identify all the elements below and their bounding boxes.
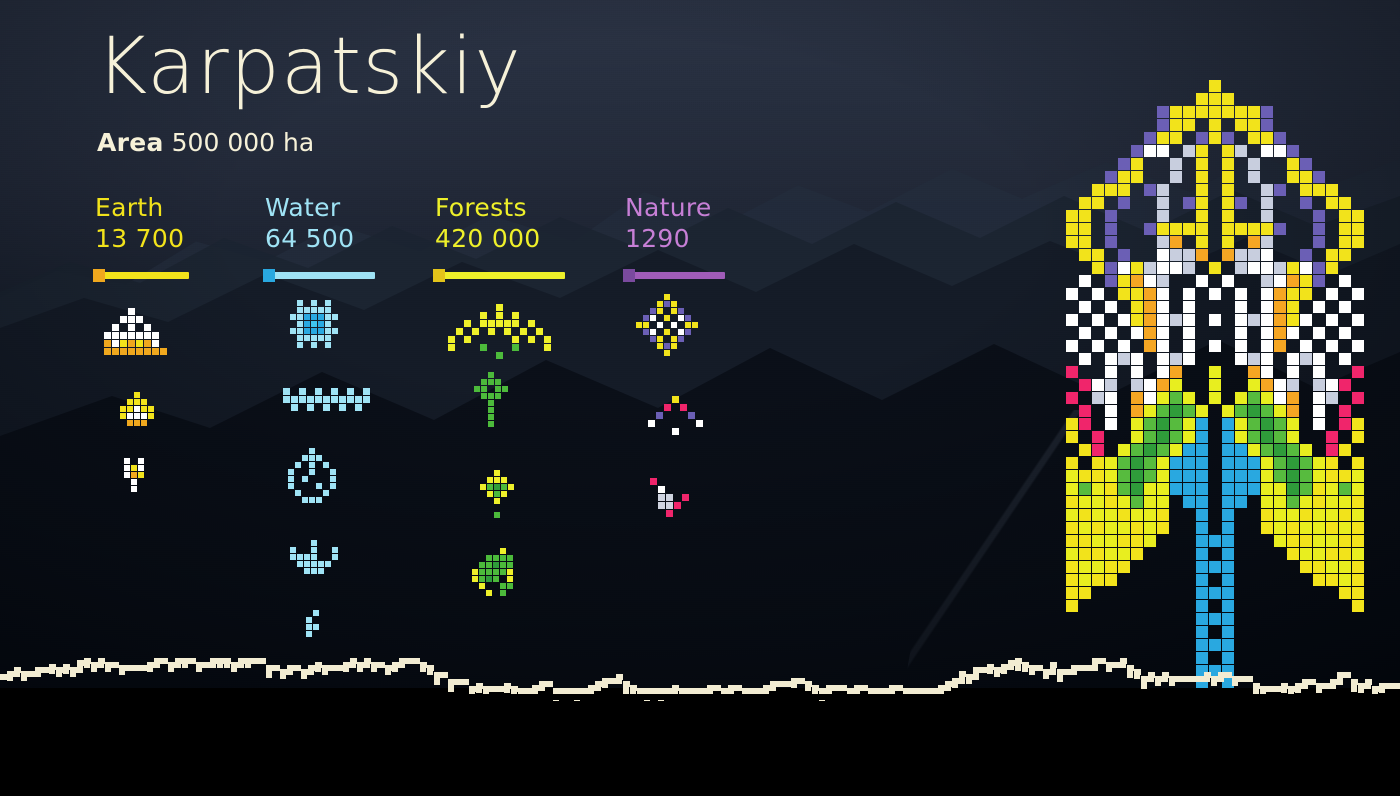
category-forests-bar	[435, 272, 565, 279]
category-forests-bar-cap	[433, 269, 445, 282]
category-forests[interactable]: Forests 420 000	[435, 194, 565, 279]
category-earth-value: 13 700	[95, 224, 189, 254]
category-earth-name: Earth	[95, 194, 189, 222]
karpatskiy-tree-of-life-embroidery	[1066, 80, 1366, 700]
category-earth-bar-cap	[93, 269, 105, 282]
category-earth-bar	[95, 272, 189, 279]
category-forests-name: Forests	[435, 194, 565, 222]
category-earth[interactable]: Earth 13 700	[95, 194, 189, 279]
category-water-value: 64 500	[265, 224, 375, 254]
category-nature-name: Nature	[625, 194, 725, 222]
category-nature-value: 1290	[625, 224, 725, 254]
category-nature[interactable]: Nature 1290	[625, 194, 725, 279]
category-forests-value: 420 000	[435, 224, 565, 254]
infographic-stage: Karpatskiy Area 500 000 ha Earth 13 700 …	[0, 0, 1400, 796]
category-nature-bar-cap	[623, 269, 635, 282]
category-nature-bar	[625, 272, 725, 279]
area-subtitle: Area 500 000 ha	[97, 128, 314, 157]
page-title: Karpatskiy	[96, 22, 522, 112]
area-label: Area	[97, 128, 164, 157]
bottom-black-band	[0, 688, 1400, 796]
pixel-mountain-ridge-line	[0, 648, 1400, 700]
area-value: 500 000 ha	[172, 128, 315, 157]
category-water-bar-cap	[263, 269, 275, 282]
category-water-bar	[265, 272, 375, 279]
category-water[interactable]: Water 64 500	[265, 194, 375, 279]
category-water-name: Water	[265, 194, 375, 222]
